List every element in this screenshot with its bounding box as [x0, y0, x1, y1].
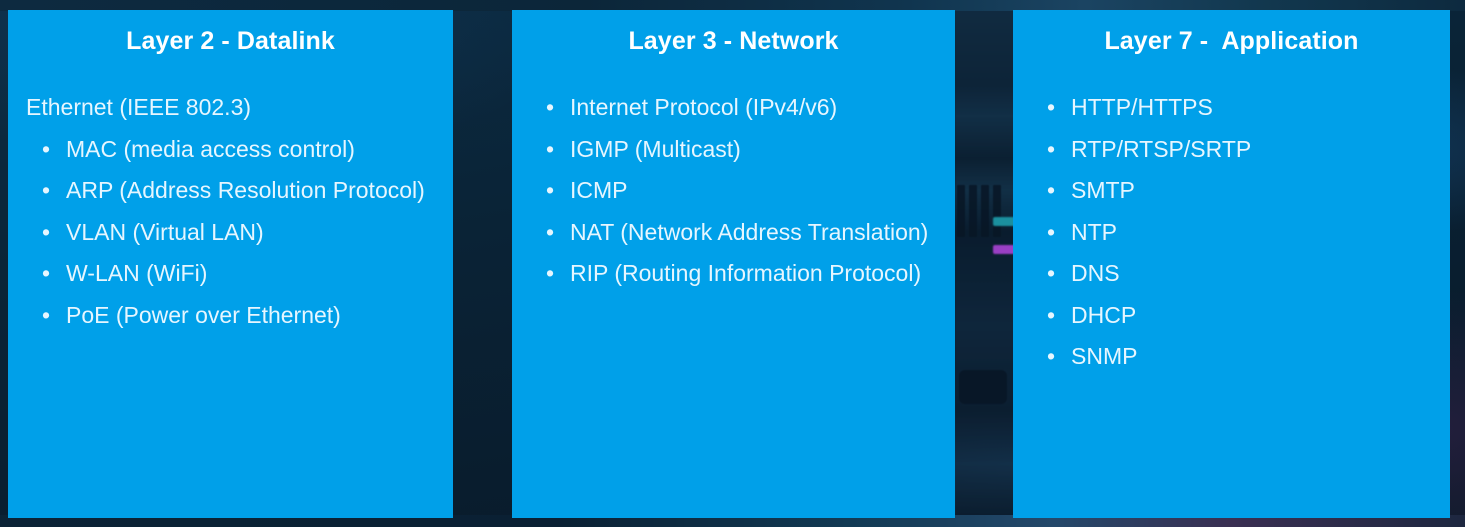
rack-led-purple-indicator [993, 245, 1015, 254]
list-item: • ARP (Address Resolution Protocol) [26, 170, 453, 212]
rack-led-teal-indicator [993, 217, 1015, 226]
bullet-icon: • [1047, 336, 1055, 378]
layer-panel-network: Layer 3 - Network • Internet Protocol (I… [512, 10, 955, 518]
protocol-list-application: • HTTP/HTTPS • RTP/RTSP/SRTP • SMTP • NT… [1013, 87, 1450, 378]
list-item-label: NAT (Network Address Translation) [570, 219, 928, 245]
list-item: • SNMP [1031, 336, 1450, 378]
list-item: • NAT (Network Address Translation) [530, 212, 955, 254]
bullet-icon: • [546, 253, 554, 295]
list-item: • NTP [1031, 212, 1450, 254]
panel-title-application: Layer 7 - Application [1013, 10, 1450, 56]
bullet-icon: • [546, 87, 554, 129]
bullet-icon: • [1047, 253, 1055, 295]
bullet-icon: • [1047, 170, 1055, 212]
bullet-icon: • [546, 212, 554, 254]
list-item: • ICMP [530, 170, 955, 212]
list-item-label: HTTP/HTTPS [1071, 94, 1213, 120]
list-item-label: W-LAN (WiFi) [66, 260, 207, 286]
bullet-icon: • [42, 129, 50, 171]
list-item: • PoE (Power over Ethernet) [26, 295, 453, 337]
list-item: • SMTP [1031, 170, 1450, 212]
bullet-icon: • [1047, 87, 1055, 129]
layer-panel-application: Layer 7 - Application • HTTP/HTTPS • RTP… [1013, 10, 1450, 518]
list-item-label: RTP/RTSP/SRTP [1071, 136, 1251, 162]
list-item-label: RIP (Routing Information Protocol) [570, 260, 921, 286]
list-item-label: SNMP [1071, 343, 1137, 369]
list-item: • VLAN (Virtual LAN) [26, 212, 453, 254]
list-item-label: MAC (media access control) [66, 136, 355, 162]
list-item-label: VLAN (Virtual LAN) [66, 219, 264, 245]
protocol-list-datalink: • Ethernet (IEEE 802.3) • MAC (media acc… [8, 87, 453, 336]
list-item-label: SMTP [1071, 177, 1135, 203]
list-item: • IGMP (Multicast) [530, 129, 955, 171]
list-item-label: DHCP [1071, 302, 1136, 328]
list-item: • DNS [1031, 253, 1450, 295]
bullet-icon: • [546, 129, 554, 171]
bullet-icon: • [42, 212, 50, 254]
server-rack-background [955, 0, 1015, 527]
rack-slot [981, 185, 989, 237]
panel-title-network: Layer 3 - Network [512, 10, 955, 56]
bullet-icon: • [1047, 295, 1055, 337]
bullet-icon: • [1047, 129, 1055, 171]
layer-panel-datalink: Layer 2 - Datalink • Ethernet (IEEE 802.… [8, 10, 453, 518]
bullet-icon: • [546, 170, 554, 212]
rack-slot [993, 185, 1001, 237]
list-item: • RTP/RTSP/SRTP [1031, 129, 1450, 171]
list-item: • MAC (media access control) [26, 129, 453, 171]
list-item: • W-LAN (WiFi) [26, 253, 453, 295]
rack-slot [957, 185, 965, 237]
list-item-label: IGMP (Multicast) [570, 136, 741, 162]
list-item-label: ICMP [570, 177, 628, 203]
rack-slot [959, 370, 1007, 404]
bullet-icon: • [42, 253, 50, 295]
list-item: • HTTP/HTTPS [1031, 87, 1450, 129]
list-item: • DHCP [1031, 295, 1450, 337]
protocol-list-network: • Internet Protocol (IPv4/v6) • IGMP (Mu… [512, 87, 955, 295]
list-item-label: ARP (Address Resolution Protocol) [66, 177, 425, 203]
list-item-label: DNS [1071, 260, 1120, 286]
list-item: • RIP (Routing Information Protocol) [530, 253, 955, 295]
bullet-icon: • [1047, 212, 1055, 254]
slide-canvas: Layer 2 - Datalink • Ethernet (IEEE 802.… [0, 0, 1465, 527]
list-item-label: NTP [1071, 219, 1117, 245]
bullet-icon: • [42, 295, 50, 337]
rack-slot [969, 185, 977, 237]
list-item-label: Ethernet (IEEE 802.3) [26, 94, 251, 120]
panel-title-datalink: Layer 2 - Datalink [8, 10, 453, 56]
list-item-label: Internet Protocol (IPv4/v6) [570, 94, 837, 120]
bullet-icon: • [42, 170, 50, 212]
list-item: • Ethernet (IEEE 802.3) [26, 87, 453, 129]
list-item-label: PoE (Power over Ethernet) [66, 302, 341, 328]
list-item: • Internet Protocol (IPv4/v6) [530, 87, 955, 129]
